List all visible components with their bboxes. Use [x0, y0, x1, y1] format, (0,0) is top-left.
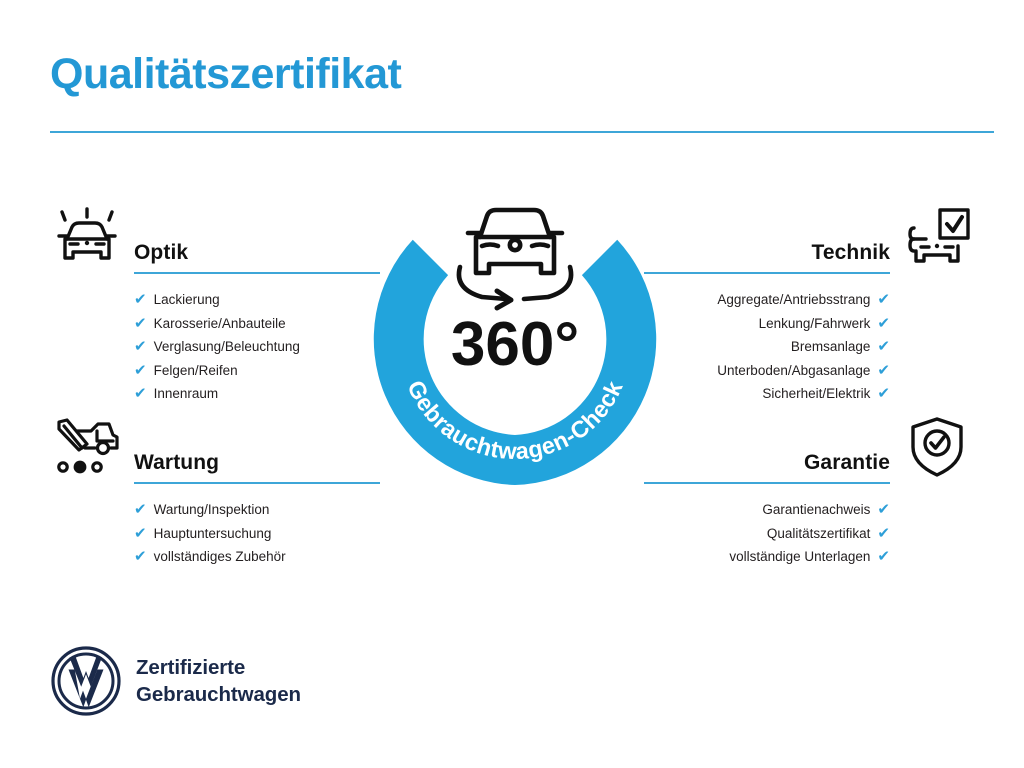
- footer-logo: Zertifizierte Gebrauchtwagen: [50, 645, 301, 717]
- car-front-checkbox-icon: [896, 204, 978, 270]
- list-item: Lenkung/Fahrwerk ✔: [644, 312, 890, 336]
- check-icon: ✔: [134, 526, 147, 541]
- list-item: Garantienachweis ✔: [644, 498, 890, 522]
- list-item: ✔ Verglasung/Beleuchtung: [134, 335, 380, 359]
- list-item-label: Qualitätszertifikat: [767, 522, 871, 546]
- section-technik: Technik Aggregate/Antriebsstrang ✔ Lenku…: [644, 204, 978, 406]
- list-item-label: Hauptuntersuchung: [154, 522, 272, 546]
- list-item: vollständige Unterlagen ✔: [644, 545, 890, 569]
- list-item: ✔ Karosserie/Anbauteile: [134, 312, 380, 336]
- check-icon: ✔: [134, 549, 147, 564]
- section-optik: Optik ✔ Lackierung ✔ Karosserie/Anbautei…: [46, 204, 380, 406]
- list-item-label: Innenraum: [154, 382, 219, 406]
- footer-logo-text: Zertifizierte Gebrauchtwagen: [136, 654, 301, 708]
- check-icon: ✔: [877, 526, 890, 541]
- list-item-label: Karosserie/Anbauteile: [154, 312, 286, 336]
- footer-line-1: Zertifizierte: [136, 654, 301, 681]
- list-item: ✔ Hauptuntersuchung: [134, 522, 380, 546]
- checklist-technik: Aggregate/Antriebsstrang ✔ Lenkung/Fahrw…: [644, 288, 978, 406]
- list-item: Aggregate/Antriebsstrang ✔: [644, 288, 890, 312]
- section-title-wrap: Wartung: [134, 452, 380, 484]
- section-title: Garantie: [644, 452, 890, 482]
- list-item-label: Wartung/Inspektion: [154, 498, 270, 522]
- check-icon: ✔: [134, 502, 147, 517]
- list-item-label: Aggregate/Antriebsstrang: [717, 288, 870, 312]
- list-item: Qualitätszertifikat ✔: [644, 522, 890, 546]
- check-icon: ✔: [877, 549, 890, 564]
- title-divider: [50, 131, 994, 133]
- badge-360-gebrauchtwagen-check: 360° Gebrauchtwagen-Check: [372, 193, 658, 485]
- list-item-label: vollständige Unterlagen: [729, 545, 870, 569]
- section-divider: [134, 272, 380, 274]
- list-item: Bremsanlage ✔: [644, 335, 890, 359]
- list-item-label: Bremsanlage: [791, 335, 871, 359]
- list-item-label: Unterboden/Abgasanlage: [717, 359, 870, 383]
- checklist-garantie: Garantienachweis ✔ Qualitätszertifikat ✔…: [644, 498, 978, 569]
- shield-check-icon: [896, 414, 978, 480]
- section-title-wrap: Garantie: [644, 452, 890, 484]
- section-divider: [134, 482, 380, 484]
- list-item: ✔ Innenraum: [134, 382, 380, 406]
- section-garantie: Garantie Garantienachweis ✔ Qualitätszer…: [644, 414, 978, 569]
- certificate-page: Qualitätszertifikat Optik: [0, 0, 1024, 768]
- check-icon: ✔: [134, 386, 147, 401]
- section-wartung: Wartung ✔ Wartung/Inspektion ✔ Hauptunte…: [46, 414, 380, 569]
- list-item: ✔ Lackierung: [134, 288, 380, 312]
- list-item-label: Sicherheit/Elektrik: [762, 382, 870, 406]
- checklist-optik: ✔ Lackierung ✔ Karosserie/Anbauteile ✔ V…: [46, 288, 380, 406]
- list-item: ✔ Felgen/Reifen: [134, 359, 380, 383]
- list-item-label: Garantienachweis: [762, 498, 870, 522]
- section-divider: [644, 272, 890, 274]
- section-title: Optik: [134, 242, 380, 272]
- check-icon: ✔: [877, 386, 890, 401]
- section-header: Garantie: [644, 414, 978, 484]
- section-divider: [644, 482, 890, 484]
- section-title: Wartung: [134, 452, 380, 482]
- section-title-wrap: Optik: [134, 242, 380, 274]
- section-title-wrap: Technik: [644, 242, 890, 274]
- list-item-label: Verglasung/Beleuchtung: [154, 335, 300, 359]
- page-title: Qualitätszertifikat: [50, 52, 401, 97]
- list-item-label: vollständiges Zubehör: [154, 545, 286, 569]
- list-item: ✔ Wartung/Inspektion: [134, 498, 380, 522]
- car-front-shine-icon: [46, 204, 128, 270]
- section-header: Technik: [644, 204, 978, 274]
- check-icon: ✔: [134, 363, 147, 378]
- badge-center-label: 360°: [451, 310, 579, 379]
- footer-line-2: Gebrauchtwagen: [136, 681, 301, 708]
- section-header: Optik: [46, 204, 380, 274]
- check-icon: ✔: [877, 316, 890, 331]
- list-item: ✔ vollständiges Zubehör: [134, 545, 380, 569]
- check-icon: ✔: [134, 292, 147, 307]
- check-icon: ✔: [877, 363, 890, 378]
- list-item-label: Lenkung/Fahrwerk: [759, 312, 871, 336]
- pen-car-service-icon: [46, 414, 128, 480]
- list-item: Unterboden/Abgasanlage ✔: [644, 359, 890, 383]
- check-icon: ✔: [877, 502, 890, 517]
- list-item: Sicherheit/Elektrik ✔: [644, 382, 890, 406]
- check-icon: ✔: [134, 316, 147, 331]
- check-icon: ✔: [877, 339, 890, 354]
- section-title: Technik: [644, 242, 890, 272]
- volkswagen-logo-icon: [50, 645, 122, 717]
- checklist-wartung: ✔ Wartung/Inspektion ✔ Hauptuntersuchung…: [46, 498, 380, 569]
- section-header: Wartung: [46, 414, 380, 484]
- list-item-label: Lackierung: [154, 288, 220, 312]
- check-icon: ✔: [134, 339, 147, 354]
- car-rotate-360-icon: [459, 210, 571, 308]
- list-item-label: Felgen/Reifen: [154, 359, 238, 383]
- check-icon: ✔: [877, 292, 890, 307]
